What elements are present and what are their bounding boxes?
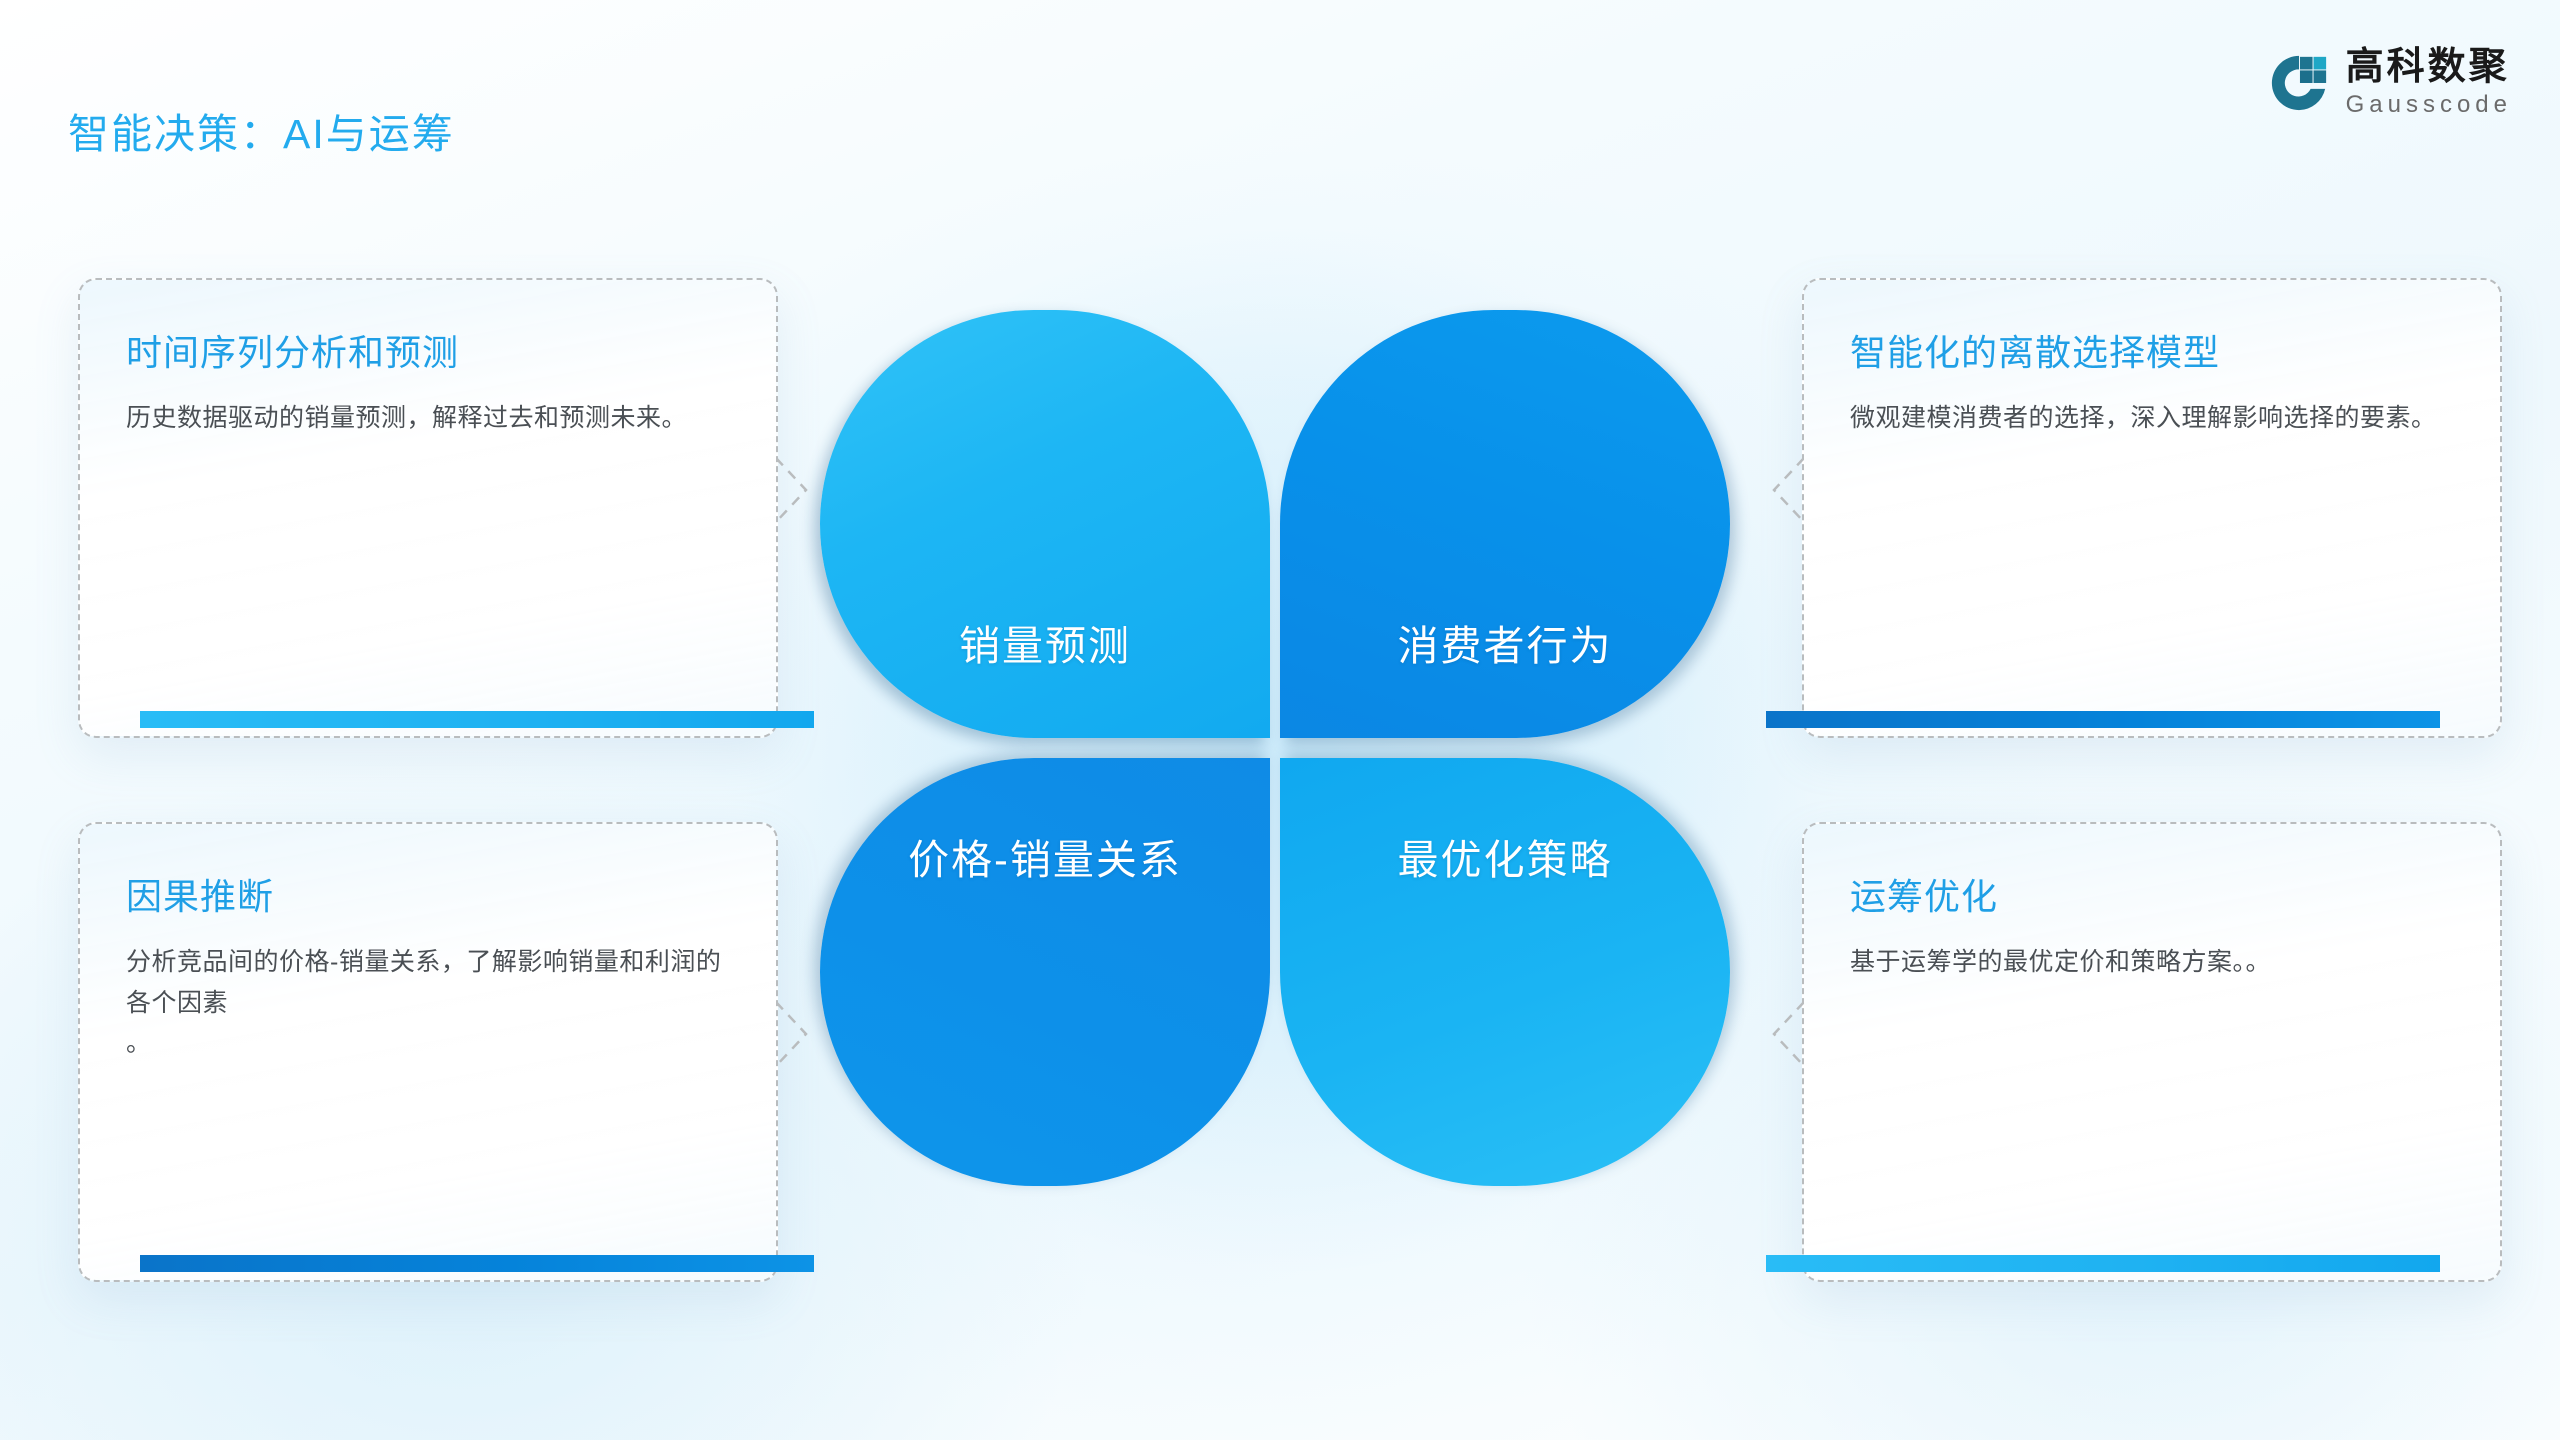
petal-label: 最优化策略 <box>1280 826 1730 886</box>
chevron-left-icon <box>1770 458 1804 522</box>
card-content: 因果推断 分析竞品间的价格-销量关系，了解影响销量和利润的各个因素 。 <box>80 824 776 1280</box>
card-content: 时间序列分析和预测 历史数据驱动的销量预测，解释过去和预测未来。 <box>80 280 776 736</box>
card-title: 时间序列分析和预测 <box>126 324 730 376</box>
card-accent-bar <box>140 711 814 728</box>
card-discrete-choice-model[interactable]: 智能化的离散选择模型 微观建模消费者的选择，深入理解影响选择的要素。 <box>1802 278 2502 738</box>
petal-label: 价格-销量关系 <box>820 826 1270 886</box>
card-body: 分析竞品间的价格-销量关系，了解影响销量和利润的各个因素 。 <box>126 942 730 1064</box>
card-time-series-forecasting[interactable]: 时间序列分析和预测 历史数据驱动的销量预测，解释过去和预测未来。 <box>78 278 778 738</box>
logo-name-cn: 高科数聚 <box>2346 48 2512 86</box>
petal-label: 销量预测 <box>820 612 1270 672</box>
petal-cluster: 销量预测 消费者行为 价格-销量关系 最优化策略 <box>820 310 1740 1190</box>
card-accent-bar <box>140 1255 814 1272</box>
petal-price-sales-relation[interactable]: 价格-销量关系 <box>820 758 1270 1186</box>
petal-label: 消费者行为 <box>1280 612 1730 672</box>
card-title: 运筹优化 <box>1850 868 2454 920</box>
card-content: 智能化的离散选择模型 微观建模消费者的选择，深入理解影响选择的要素。 <box>1804 280 2500 736</box>
petal-sales-forecast[interactable]: 销量预测 <box>820 310 1270 738</box>
chevron-left-icon <box>1770 1002 1804 1066</box>
card-body: 微观建模消费者的选择，深入理解影响选择的要素。 <box>1850 398 2454 439</box>
card-causal-inference[interactable]: 因果推断 分析竞品间的价格-销量关系，了解影响销量和利润的各个因素 。 <box>78 822 778 1282</box>
chevron-right-icon <box>776 1002 810 1066</box>
petal-optimization-strategy[interactable]: 最优化策略 <box>1280 758 1730 1186</box>
petal-consumer-behavior[interactable]: 消费者行为 <box>1280 310 1730 738</box>
card-body: 基于运筹学的最优定价和策略方案。。 <box>1850 942 2454 983</box>
chevron-right-icon <box>776 458 810 522</box>
card-body: 历史数据驱动的销量预测，解释过去和预测未来。 <box>126 398 730 439</box>
card-accent-bar <box>1766 711 2440 728</box>
card-operations-optimization[interactable]: 运筹优化 基于运筹学的最优定价和策略方案。。 <box>1802 822 2502 1282</box>
card-title: 智能化的离散选择模型 <box>1850 324 2454 376</box>
card-accent-bar <box>1766 1255 2440 1272</box>
slide-canvas: 智能决策：AI与运筹 高科数聚 Gausscode 销量预测 消费者行为 价格-… <box>0 0 2560 1440</box>
page-title: 智能决策：AI与运筹 <box>68 100 455 160</box>
card-content: 运筹优化 基于运筹学的最优定价和策略方案。。 <box>1804 824 2500 1280</box>
card-title: 因果推断 <box>126 868 730 920</box>
logo-name-en: Gausscode <box>2346 93 2512 117</box>
gausscode-logo-icon <box>2268 52 2330 114</box>
logo-wordmark: 高科数聚 Gausscode <box>2346 48 2512 117</box>
brand-logo: 高科数聚 Gausscode <box>2268 48 2512 117</box>
